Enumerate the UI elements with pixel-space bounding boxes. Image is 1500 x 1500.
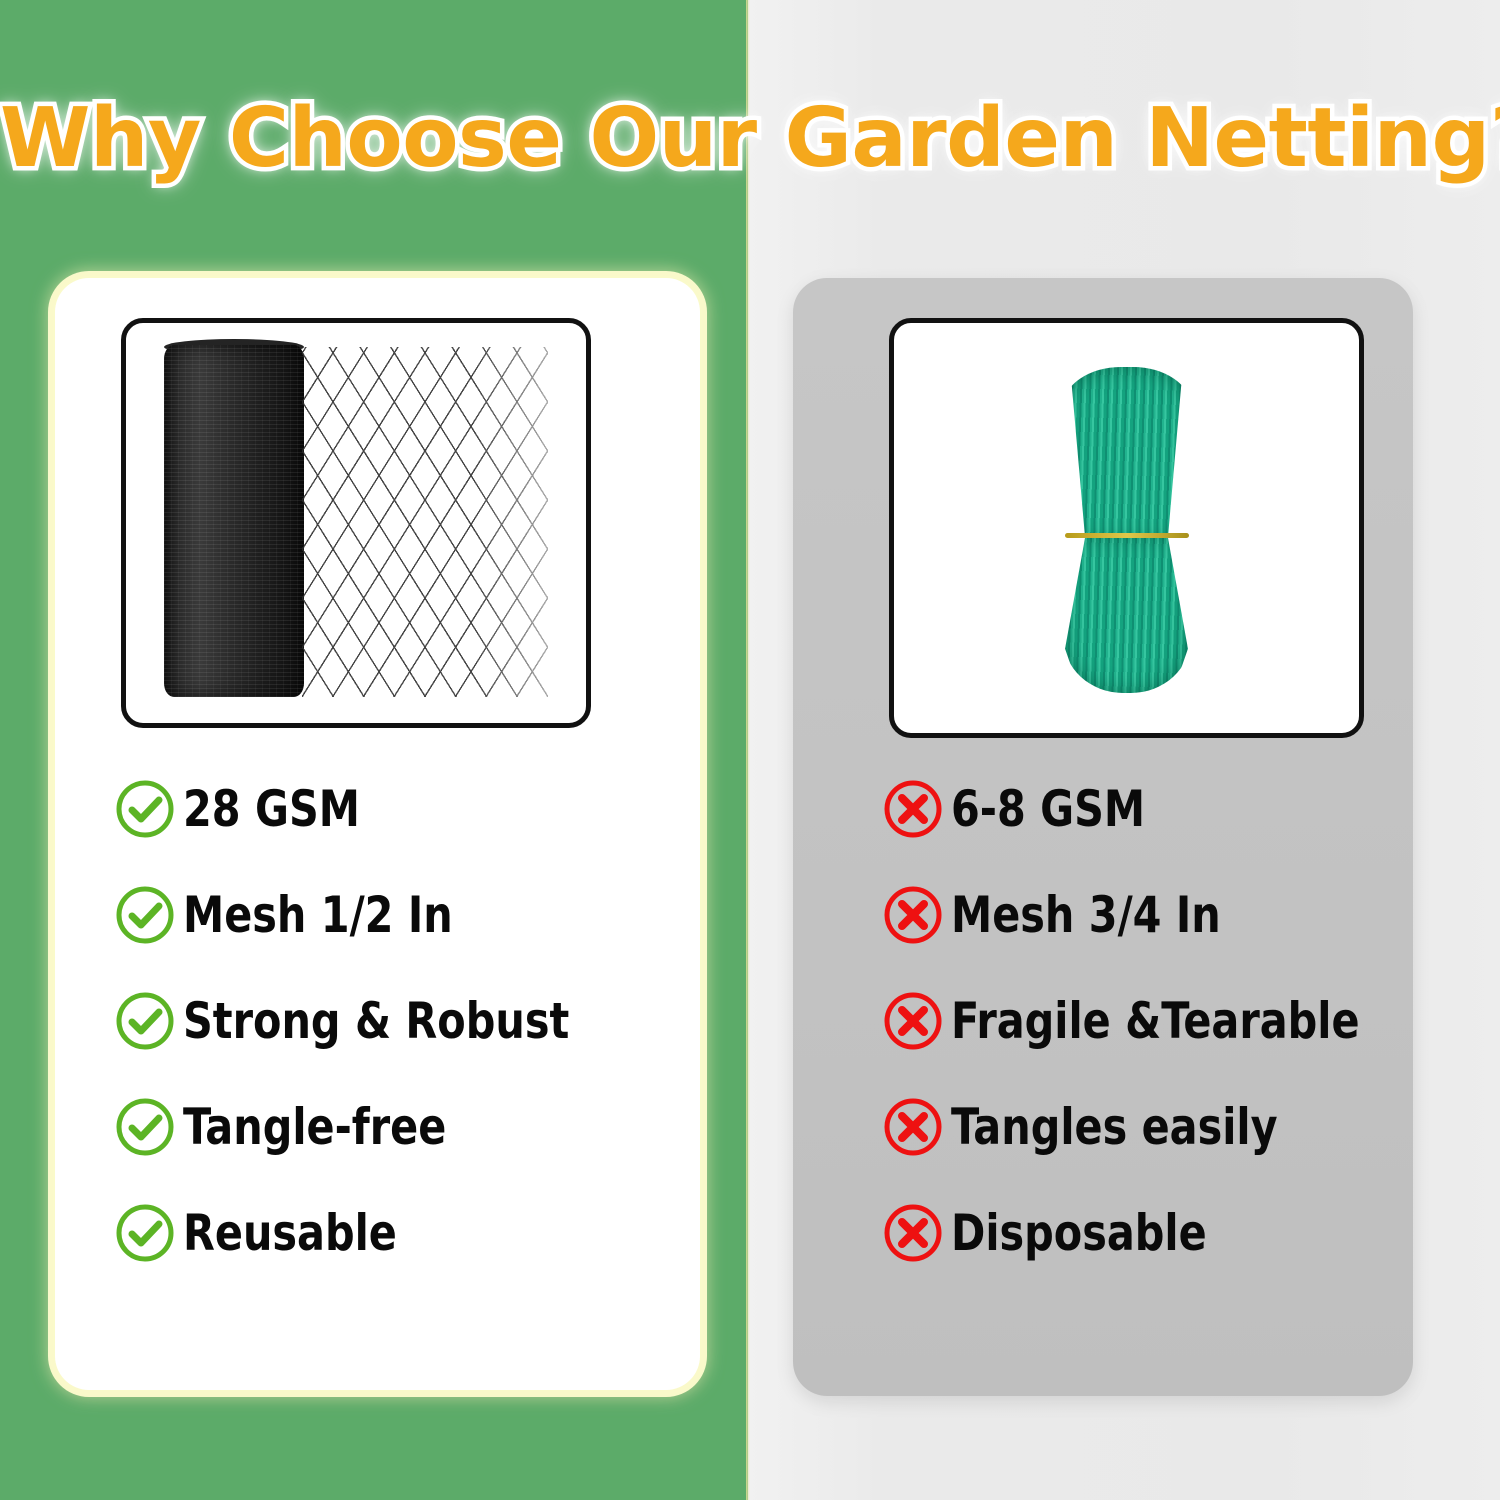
page-title: Why Choose Our Garden Netting? xyxy=(0,96,1500,182)
good-product-card: 28 GSM Mesh 1/2 In Strong & Robust Tangl… xyxy=(55,278,700,1390)
list-item: Disposable xyxy=(881,1180,1413,1286)
list-item: Reusable xyxy=(113,1180,700,1286)
list-item: Mesh 3/4 In xyxy=(881,862,1413,968)
bundle-upper-coil xyxy=(1063,367,1191,543)
list-item: Strong & Robust xyxy=(113,968,700,1074)
list-item-label: Strong & Robust xyxy=(183,996,569,1046)
bundle-lower-coil xyxy=(1063,535,1191,693)
check-circle-icon xyxy=(113,777,177,841)
comparison-infographic: Why Choose Our Garden Netting? 28 GSM Me… xyxy=(0,0,1500,1500)
list-item: Fragile &Tearable xyxy=(881,968,1413,1074)
x-circle-icon xyxy=(881,777,945,841)
list-item-label: Tangle-free xyxy=(183,1102,446,1152)
check-circle-icon xyxy=(113,1201,177,1265)
check-circle-icon xyxy=(113,989,177,1053)
panel-divider xyxy=(746,0,750,1500)
list-item: 6-8 GSM xyxy=(881,756,1413,862)
list-item: 28 GSM xyxy=(113,756,700,862)
headline-container: Why Choose Our Garden Netting? xyxy=(0,96,1500,182)
x-circle-icon xyxy=(881,883,945,947)
check-circle-icon xyxy=(113,1095,177,1159)
list-item-label: Mesh 3/4 In xyxy=(951,890,1221,940)
x-circle-icon xyxy=(881,1201,945,1265)
list-item: Tangle-free xyxy=(113,1074,700,1180)
list-item: Tangles easily xyxy=(881,1074,1413,1180)
list-item-label: Tangles easily xyxy=(951,1102,1278,1152)
list-item-label: 28 GSM xyxy=(183,784,360,834)
netting-mesh-fade xyxy=(302,347,548,697)
check-circle-icon xyxy=(113,883,177,947)
bundle-tie-string xyxy=(1065,533,1189,538)
list-item-label: Fragile &Tearable xyxy=(951,996,1360,1046)
x-circle-icon xyxy=(881,1095,945,1159)
competitor-product-card: 6-8 GSM Mesh 3/4 In Fragile &Tearable Ta… xyxy=(793,278,1413,1396)
competitor-feature-list: 6-8 GSM Mesh 3/4 In Fragile &Tearable Ta… xyxy=(881,756,1413,1286)
list-item-label: 6-8 GSM xyxy=(951,784,1145,834)
green-netting-bundle xyxy=(1063,367,1191,691)
list-item-label: Reusable xyxy=(183,1208,397,1258)
competitor-product-image-frame xyxy=(889,318,1364,738)
good-feature-list: 28 GSM Mesh 1/2 In Strong & Robust Tangl… xyxy=(113,756,700,1286)
list-item: Mesh 1/2 In xyxy=(113,862,700,968)
list-item-label: Disposable xyxy=(951,1208,1207,1258)
good-product-image-frame xyxy=(121,318,591,728)
list-item-label: Mesh 1/2 In xyxy=(183,890,453,940)
x-circle-icon xyxy=(881,989,945,1053)
black-netting-roll xyxy=(164,345,304,697)
